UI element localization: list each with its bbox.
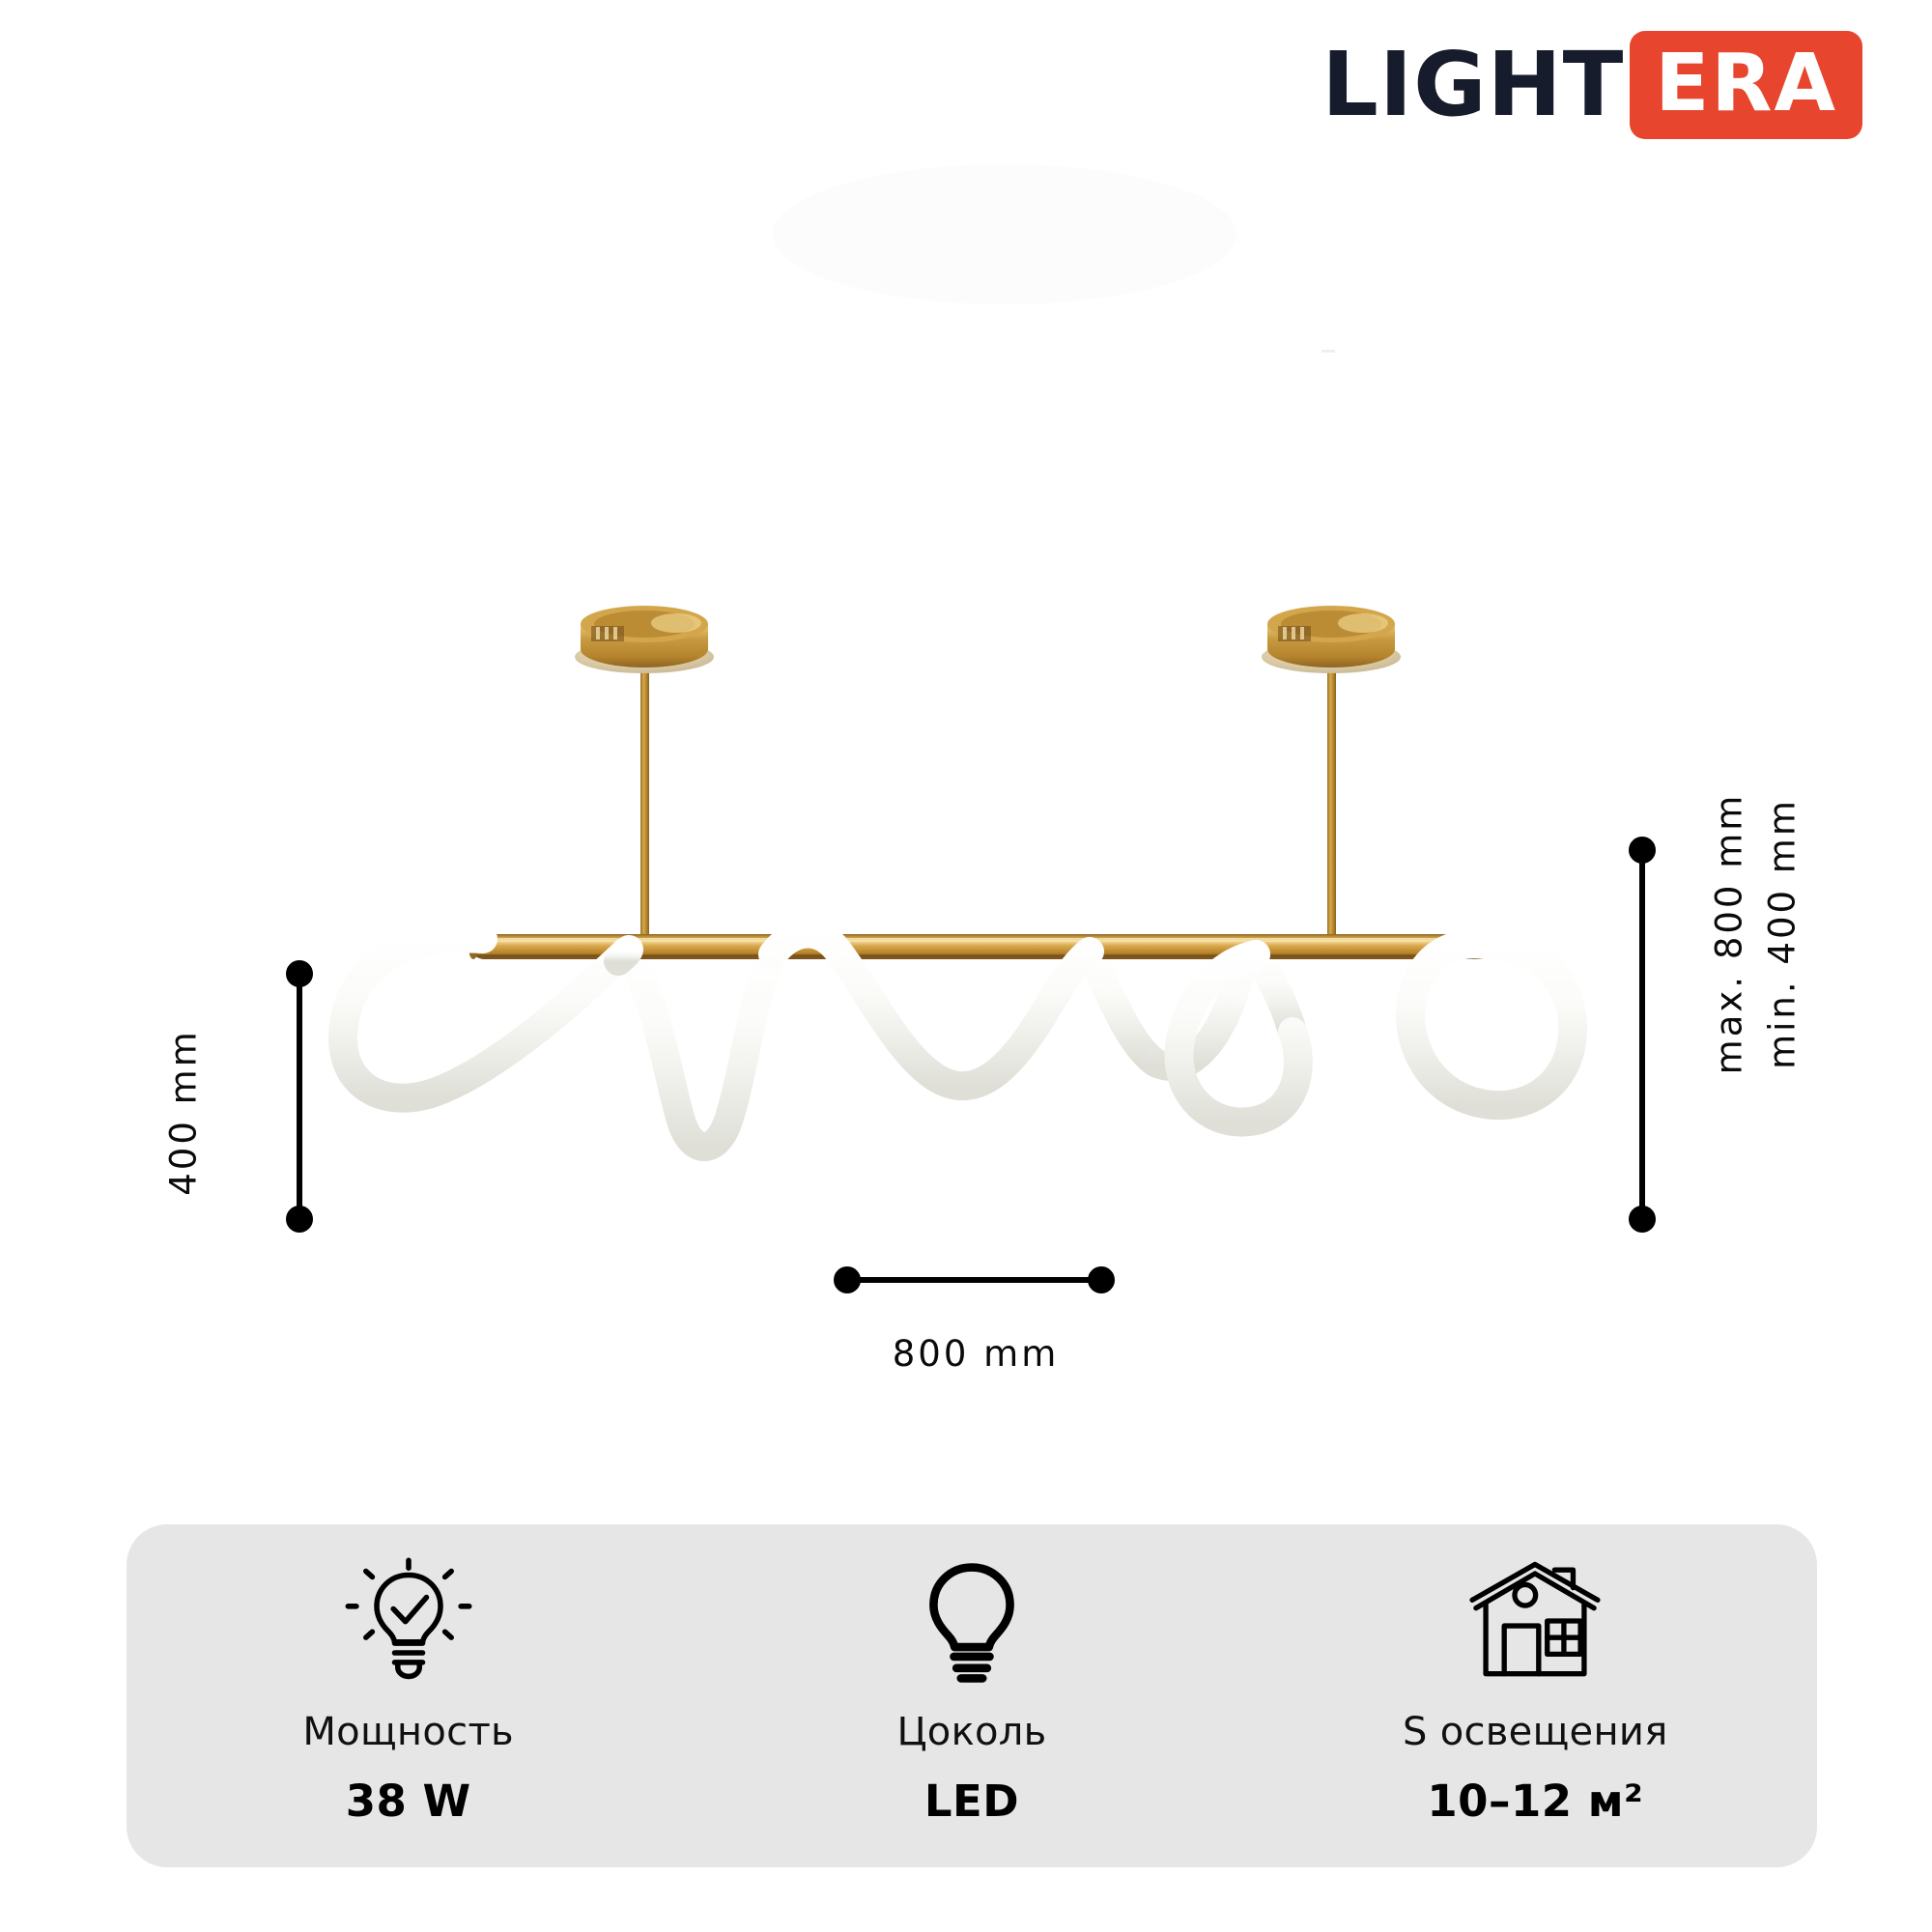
spec-cell-socket: Цоколь LED [690,1524,1253,1867]
spec-title-socket: Цоколь [896,1710,1046,1754]
dimension-label-suspension-min: min. 400 mm [1762,741,1804,1127]
bulb-solid-icon [908,1557,1036,1685]
spec-title-area: S освещения [1403,1710,1668,1754]
spec-value-area: 10–12 м² [1427,1776,1643,1827]
spec-cell-power: Мощность 38 W [127,1524,690,1867]
dimension-line-height-left [289,963,310,1230]
spec-cell-area: S освещения 10–12 м² [1254,1524,1817,1867]
spec-title-power: Мощность [302,1710,514,1754]
dimension-label-suspension-max: max. 800 mm [1709,741,1750,1127]
dimension-line-suspension-right [1632,839,1653,1230]
specifications-panel: Мощность 38 W Цоколь LED [127,1524,1817,1867]
bulb-check-icon [345,1557,472,1685]
dimension-label-width: 800 mm [782,1333,1169,1375]
dimension-label-height: 400 mm [163,920,205,1306]
spec-value-socket: LED [924,1776,1019,1827]
spec-value-power: 38 W [346,1776,471,1827]
product-illustration: 400 mm max. 800 mm min. 400 mm 800 mm [0,0,1932,1430]
dimension-line-width-bottom [837,1269,1112,1291]
house-icon [1467,1557,1603,1685]
